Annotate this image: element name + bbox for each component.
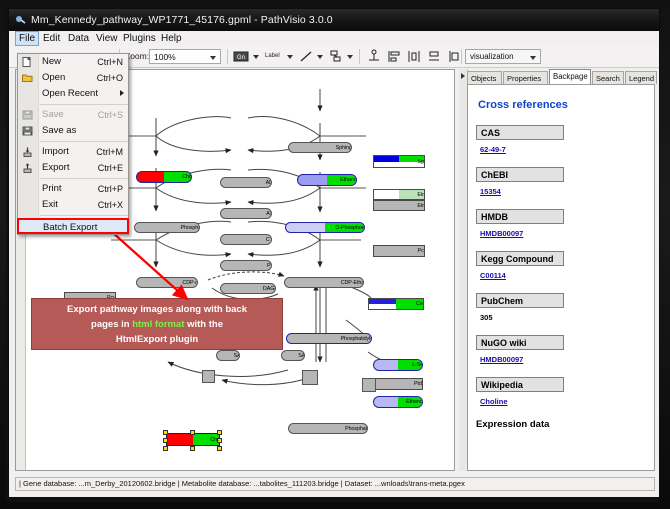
outer-frame: Mm_Kennedy_pathway_WP1771_45176.gpml - P…	[0, 0, 670, 509]
label-dropdown-caret[interactable]	[287, 55, 293, 59]
xref-source-kegg: Kegg Compound	[476, 251, 564, 266]
pathway-node-etnk2[interactable]: Etnk2	[373, 200, 425, 211]
pathway-node-l-serine[interactable]: L-Serine	[373, 359, 423, 371]
pathway-anchor-box[interactable]	[202, 370, 215, 383]
zoom-value: 100%	[154, 52, 176, 62]
pathway-node-phosphatidylserine[interactable]: Phosphatidylserine	[288, 423, 368, 434]
pathway-node-o-phosphoethanolamine[interactable]: O-Phosphoethanolamine	[285, 222, 365, 233]
callout-line-2b: with the	[184, 319, 223, 330]
file-menu-exit-accel: Ctrl+X	[98, 197, 123, 213]
line-tool-icon[interactable]	[299, 49, 313, 64]
interaction-dropdown-caret[interactable]	[347, 55, 353, 59]
xref-source-wikipedia: Wikipedia	[476, 377, 564, 392]
file-menu-open-recent-label: Open Recent	[42, 88, 98, 99]
file-menu-export[interactable]: Export Ctrl+E	[18, 160, 128, 176]
pathway-node-pcyt2[interactable]: Pcyt2	[373, 245, 425, 257]
pathvisio-application-window: Mm_Kennedy_pathway_WP1771_45176.gpml - P…	[8, 8, 660, 498]
xref-source-pubchem: PubChem	[476, 293, 564, 308]
file-menu-batch-export[interactable]: Batch Export	[17, 218, 129, 234]
file-menu-print-accel: Ctrl+P	[98, 181, 123, 197]
tab-legend[interactable]: Legend	[625, 71, 657, 84]
toolbar-separator	[359, 49, 360, 64]
pathvisio-app-icon	[15, 14, 27, 26]
file-menu-import-label: Import	[42, 146, 69, 157]
open-folder-icon	[22, 73, 33, 83]
file-menu-open-recent[interactable]: Open Recent	[18, 86, 128, 102]
pathway-node-sphingolipids[interactable]: Sphingolipids	[288, 142, 352, 153]
selection-handle[interactable]	[190, 430, 195, 435]
callout-line-1: Export pathway images along with back	[32, 302, 282, 317]
cross-references-heading: Cross references	[478, 99, 646, 111]
file-menu-new-label: New	[42, 56, 61, 67]
title-bar: Mm_Kennedy_pathway_WP1771_45176.gpml - P…	[9, 9, 659, 31]
menu-view[interactable]: View	[92, 32, 122, 45]
xref-value-kegg[interactable]: C00114	[480, 271, 646, 280]
file-menu-export-label: Export	[42, 162, 69, 173]
file-menu-save-label: Save	[42, 109, 64, 120]
save-disk-icon	[22, 110, 33, 120]
svg-text:Gn: Gn	[237, 55, 245, 61]
interaction-tool-icon[interactable]	[329, 49, 343, 64]
cept1-q1	[369, 299, 396, 304]
menu-edit[interactable]: Edit	[39, 32, 64, 45]
align-left-icon[interactable]	[387, 49, 401, 64]
pathway-node-cept1[interactable]: Cept1	[368, 298, 424, 310]
pathway-node-atp[interactable]: ATP	[220, 208, 272, 219]
tab-backpage[interactable]: Backpage	[549, 69, 591, 84]
window-title: Mm_Kennedy_pathway_WP1771_45176.gpml - P…	[31, 9, 333, 31]
menu-help[interactable]: Help	[157, 32, 186, 45]
xref-value-wikipedia[interactable]: Choline	[480, 397, 646, 406]
label-tool-icon[interactable]: Label	[265, 50, 280, 63]
pathway-node-sah[interactable]: SAH	[216, 350, 240, 361]
xref-value-cas[interactable]: 62-49-7	[480, 145, 646, 154]
chevron-down-icon	[530, 56, 536, 60]
pathway-node-ctp[interactable]: CTP	[220, 234, 272, 245]
save-as-icon	[22, 126, 33, 136]
pathway-node-phosphatidylethanolamine[interactable]: Phosphatidylethanolamine	[286, 333, 372, 344]
file-menu-new[interactable]: New Ctrl+N	[18, 54, 128, 70]
callout-highlight: html format	[132, 319, 184, 330]
callout-line-2: pages in html format with the	[32, 317, 282, 332]
selection-handle[interactable]	[163, 430, 168, 435]
file-menu-open-label: Open	[42, 72, 65, 83]
pathway-node-ppi[interactable]: PPi	[220, 260, 272, 271]
file-menu-open-accel: Ctrl+O	[97, 70, 123, 86]
xref-value-chebi[interactable]: 15354	[480, 187, 646, 196]
toolbar-separator	[461, 49, 462, 64]
selection-handle[interactable]	[190, 446, 195, 451]
align-top-icon[interactable]	[367, 49, 381, 64]
menu-data[interactable]: Data	[64, 32, 93, 45]
pathway-node-sam[interactable]: SAM	[281, 350, 305, 361]
file-menu-print[interactable]: Print Ctrl+P	[18, 181, 128, 197]
distribute-horizontal-icon[interactable]	[407, 49, 421, 64]
pathway-anchor-box[interactable]	[362, 378, 376, 392]
sgpl1-q1	[374, 156, 399, 162]
chevron-down-icon	[210, 56, 216, 60]
file-menu-print-label: Print	[42, 183, 62, 194]
new-document-icon	[22, 57, 33, 67]
file-menu-exit[interactable]: Exit Ctrl+X	[18, 197, 128, 213]
pathway-node-sgpl1[interactable]: Sgpl1	[373, 155, 425, 168]
import-icon	[22, 147, 33, 157]
visualization-combobox[interactable]: visualization	[465, 49, 541, 64]
toolbar-separator	[227, 49, 228, 64]
menu-separator	[40, 141, 128, 142]
xref-value-hmdb[interactable]: HMDB00097	[480, 229, 646, 238]
file-menu-save-as-label: Save as	[42, 125, 76, 136]
pathway-node-dag[interactable]: DAG/DAG	[220, 283, 276, 294]
selection-handle[interactable]	[217, 446, 222, 451]
submenu-arrow-icon	[120, 90, 124, 96]
menu-separator	[40, 178, 128, 179]
common-width-icon[interactable]	[447, 49, 461, 64]
tab-search[interactable]: Search	[592, 71, 624, 84]
expression-data-heading: Expression data	[476, 419, 646, 430]
file-menu-new-accel: Ctrl+N	[97, 54, 123, 70]
annotation-callout: Export pathway images along with back pa…	[31, 298, 283, 350]
file-menu-open[interactable]: Open Ctrl+O	[18, 70, 128, 86]
pathway-node-etnk1[interactable]: Etnk1	[373, 189, 425, 200]
panel-tab-strip: Objects Properties Backpage Search Legen…	[467, 69, 655, 84]
xref-source-cas: CAS	[476, 125, 564, 140]
status-bar: | Gene database: ...m_Derby_20120602.bri…	[15, 477, 655, 491]
file-menu-import-accel: Ctrl+M	[96, 144, 123, 160]
selection-handle[interactable]	[163, 446, 168, 451]
backpage-content: Cross references CAS 62-49-7 ChEBI 15354…	[467, 84, 655, 471]
menu-file[interactable]: File	[15, 31, 39, 46]
menu-bar: File Edit Data View Plugins Help	[9, 31, 659, 47]
xref-value-pubchem: 305	[480, 313, 646, 322]
file-menu-import[interactable]: Import Ctrl+M	[18, 144, 128, 160]
pathway-node-ptdss2[interactable]: Ptdss2	[373, 378, 423, 390]
selection-handle[interactable]	[217, 430, 222, 435]
xref-source-chebi: ChEBI	[476, 167, 564, 182]
file-menu-export-accel: Ctrl+E	[98, 160, 123, 176]
pathway-node-ethanolamine-2[interactable]: Ethanolamine	[373, 396, 423, 408]
zoom-combobox[interactable]: 100%	[149, 49, 221, 64]
file-menu-exit-label: Exit	[42, 199, 58, 210]
file-menu-save-as[interactable]: Save as	[18, 123, 128, 139]
pathway-node-adp[interactable]: ADP	[220, 177, 272, 188]
distribute-vertical-icon[interactable]	[427, 49, 441, 64]
pathway-node-cdp-choline[interactable]: CDP-choline	[136, 277, 198, 288]
xref-source-hmdb: HMDB	[476, 209, 564, 224]
datanode-tool-icon[interactable]: Gn	[233, 49, 249, 64]
line-dropdown-caret[interactable]	[317, 55, 323, 59]
selection-handle[interactable]	[163, 438, 168, 443]
pathway-anchor-box[interactable]	[302, 370, 318, 385]
file-menu-save-accel: Ctrl+S	[98, 107, 123, 123]
menu-plugins[interactable]: Plugins	[119, 32, 160, 45]
pathway-node-phosphocholine[interactable]: Phosphocholine	[134, 222, 200, 233]
pathway-node-choline[interactable]: Choline	[136, 171, 192, 183]
callout-line-3: HtmlExport plugin	[32, 332, 282, 347]
side-panel: Objects Properties Backpage Search Legen…	[459, 69, 655, 471]
callout-line-2a: pages in	[91, 319, 132, 330]
file-menu-save: Save Ctrl+S	[18, 107, 128, 123]
menu-separator	[40, 104, 128, 105]
menu-separator	[40, 215, 128, 216]
export-icon	[22, 163, 33, 173]
file-menu-dropdown: New Ctrl+N Open Ctrl+O Open Recent Save …	[17, 53, 129, 235]
xref-source-nugo: NuGO wiki	[476, 335, 564, 350]
tab-properties[interactable]: Properties	[503, 71, 548, 84]
expand-arrow-icon[interactable]	[461, 73, 465, 79]
pathway-node-cdp-ethanolamine[interactable]: CDP-Ethanolamine	[284, 277, 364, 288]
file-menu-batch-export-label: Batch Export	[43, 222, 97, 233]
visualization-value: visualization	[470, 52, 514, 61]
tab-objects[interactable]: Objects	[467, 71, 502, 84]
pathway-node-ethanolamine-1[interactable]: Ethanolamine	[297, 174, 357, 186]
xref-value-nugo[interactable]: HMDB00097	[480, 355, 646, 364]
datanode-dropdown-caret[interactable]	[253, 55, 259, 59]
